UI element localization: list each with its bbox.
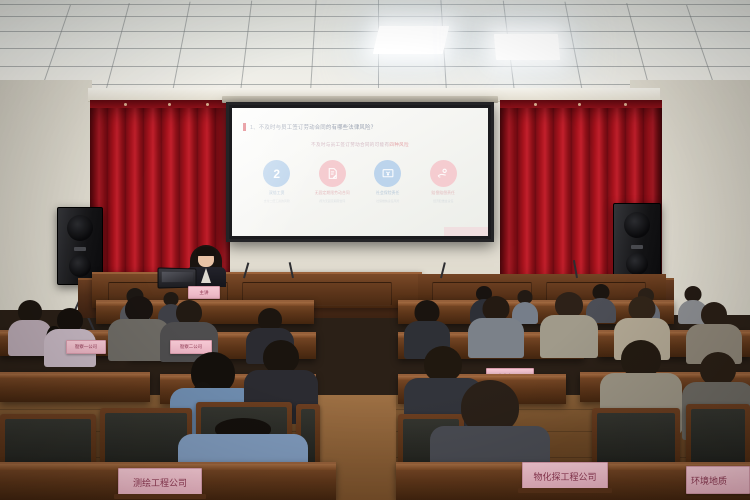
- social-insurance-icon: [374, 160, 401, 187]
- table-placard: 物化探工程公司: [522, 462, 608, 490]
- slide-item-sub: 社保缴纳责任风险: [363, 199, 413, 203]
- audience-person: [44, 308, 96, 364]
- slide-item-label: 无固定期限劳动合同: [307, 191, 357, 196]
- conference-room-photo: 1、不及时与员工签订劳动合同的有哪些法律风险？ 不及时与员工签订劳动合同的可能有…: [0, 0, 750, 500]
- led-panel-left: [373, 26, 449, 54]
- led-panel-right: [494, 34, 560, 60]
- contract-document-icon: [319, 160, 346, 187]
- slide-item-label: 社会保险责任: [363, 191, 413, 196]
- slide-item-label: 双倍工资: [252, 191, 302, 196]
- slide-item-4: 赔偿赔偿责任 经济赔偿金责任: [418, 160, 468, 203]
- slide-item-sub: 经济赔偿金责任: [418, 199, 468, 203]
- table-placard: 测绘工程公司: [118, 468, 202, 496]
- table-placard: 环境地质: [686, 466, 750, 494]
- suspended-ceiling: [0, 0, 750, 92]
- presentation-slide: 1、不及时与员工签订劳动合同的有哪些法律风险？ 不及时与员工签订劳动合同的可能有…: [232, 108, 488, 236]
- projection-screen: 1、不及时与员工签订劳动合同的有哪些法律风险？ 不及时与员工签订劳动合同的可能有…: [226, 102, 494, 242]
- audience-person: [540, 292, 598, 356]
- loudspeaker-right: [613, 203, 661, 285]
- presenter-name-placard: 主讲: [188, 286, 220, 299]
- hand-coin-icon: [430, 160, 457, 187]
- slide-icon-row: 2 双倍工资 支付二倍工资的风险 无固定期限劳动合同: [243, 160, 477, 203]
- table-placard: 勘察一公司: [66, 340, 106, 354]
- slide-item-3: 社会保险责任 社保缴纳责任风险: [363, 160, 413, 203]
- slide-footer-bar: [444, 227, 488, 236]
- slide-item-sub: 支付二倍工资的风险: [252, 199, 302, 203]
- slide-subtitle: 不及时与员工签订劳动合同的可能有四种风险: [243, 142, 477, 148]
- slide-title: 1、不及时与员工签订劳动合同的有哪些法律风险？: [250, 123, 376, 131]
- audience-desk-row3-far-left: [0, 372, 150, 402]
- slide-item-1: 2 双倍工资 支付二倍工资的风险: [252, 160, 302, 203]
- number-two-icon: 2: [263, 160, 290, 187]
- slide-item-2: 无固定期限劳动合同 视为无固定期限合同: [307, 160, 357, 203]
- slide-item-label: 赔偿赔偿责任: [418, 191, 468, 196]
- slide-item-sub: 视为无固定期限合同: [307, 199, 357, 203]
- curtain-rail-left: [90, 100, 230, 108]
- title-accent-bar: [243, 123, 246, 131]
- curtain-rail-right: [500, 100, 662, 108]
